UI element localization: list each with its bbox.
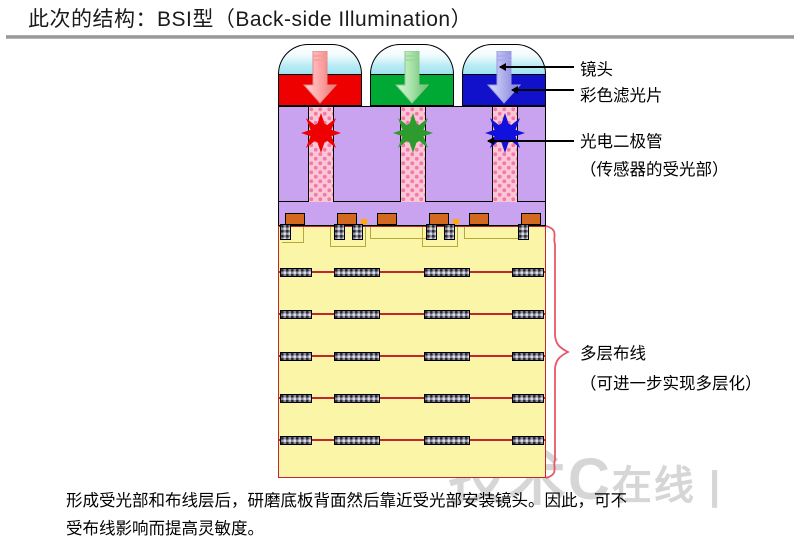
wiring-layer [278,314,546,356]
gate-electrode [377,213,397,225]
light-arrow-red [302,51,338,105]
wiring-layer [278,356,546,398]
metal-wire [334,394,380,403]
contact-trace [370,227,430,239]
callout-lens: 镜头 [580,56,613,80]
bsi-sensor-diagram [278,44,546,478]
via-plug [426,224,437,240]
wiring-layer [278,272,546,314]
wiring-layer [278,440,546,478]
metal-wire [424,268,470,277]
metal-wire [424,352,470,361]
metal-wire [280,394,312,403]
slide-root: 此次的结构：BSI型（Back-side Illumination） 技术C在线… [0,0,800,557]
metal-wire [334,352,380,361]
metal-wire [334,436,380,445]
via-plug [334,224,345,240]
contact-trace [464,227,520,239]
metal-wire [334,310,380,319]
callout-wiring: 多层布线 [580,340,646,364]
gate-electrode [469,213,489,225]
via-plug [444,224,455,240]
via-plug [280,224,291,240]
metal-wire [424,436,470,445]
photo-conversion-burst-blue [483,113,527,153]
caption-line-1: 形成受光部和布线层后，研磨底板背面然后靠近受光部安装镜头。因此，可不 [66,487,766,515]
leader-line-photodiode [488,140,574,142]
via-plug [352,224,363,240]
callout-photodiode-sub: （传感器的受光部） [580,156,729,180]
light-arrow-green [394,51,430,105]
metal-wire [334,268,380,277]
via-plug [518,224,529,240]
callout-photodiode: 光电二极管 [580,128,663,152]
title-divider [6,35,794,39]
metal-wire [280,268,312,277]
metal-wire [280,436,312,445]
callout-color-filter: 彩色滤光片 [580,82,663,106]
callout-wiring-sub: （可进一步实现多层化） [580,370,762,394]
multilayer-wiring-stack [278,226,546,478]
leader-line-color-filter [512,89,574,91]
transistor-gate-strip [278,202,546,226]
photo-conversion-burst-green [391,113,435,153]
page-title: 此次的结构：BSI型（Back-side Illumination） [28,3,472,33]
photo-conversion-burst-red [299,113,343,153]
metal-wire [280,310,312,319]
wiring-layer [278,398,546,440]
metal-wire [424,310,470,319]
metal-wire [424,394,470,403]
leader-line-lens [500,66,574,68]
caption-line-2: 受布线影响而提高灵敏度。 [66,515,766,543]
light-arrow-blue [486,51,522,105]
metal-wire [280,352,312,361]
silicon-substrate [278,106,546,202]
wiring-brace [540,224,574,485]
caption: 形成受光部和布线层后，研磨底板背面然后靠近受光部安装镜头。因此，可不 受布线影响… [66,487,766,543]
